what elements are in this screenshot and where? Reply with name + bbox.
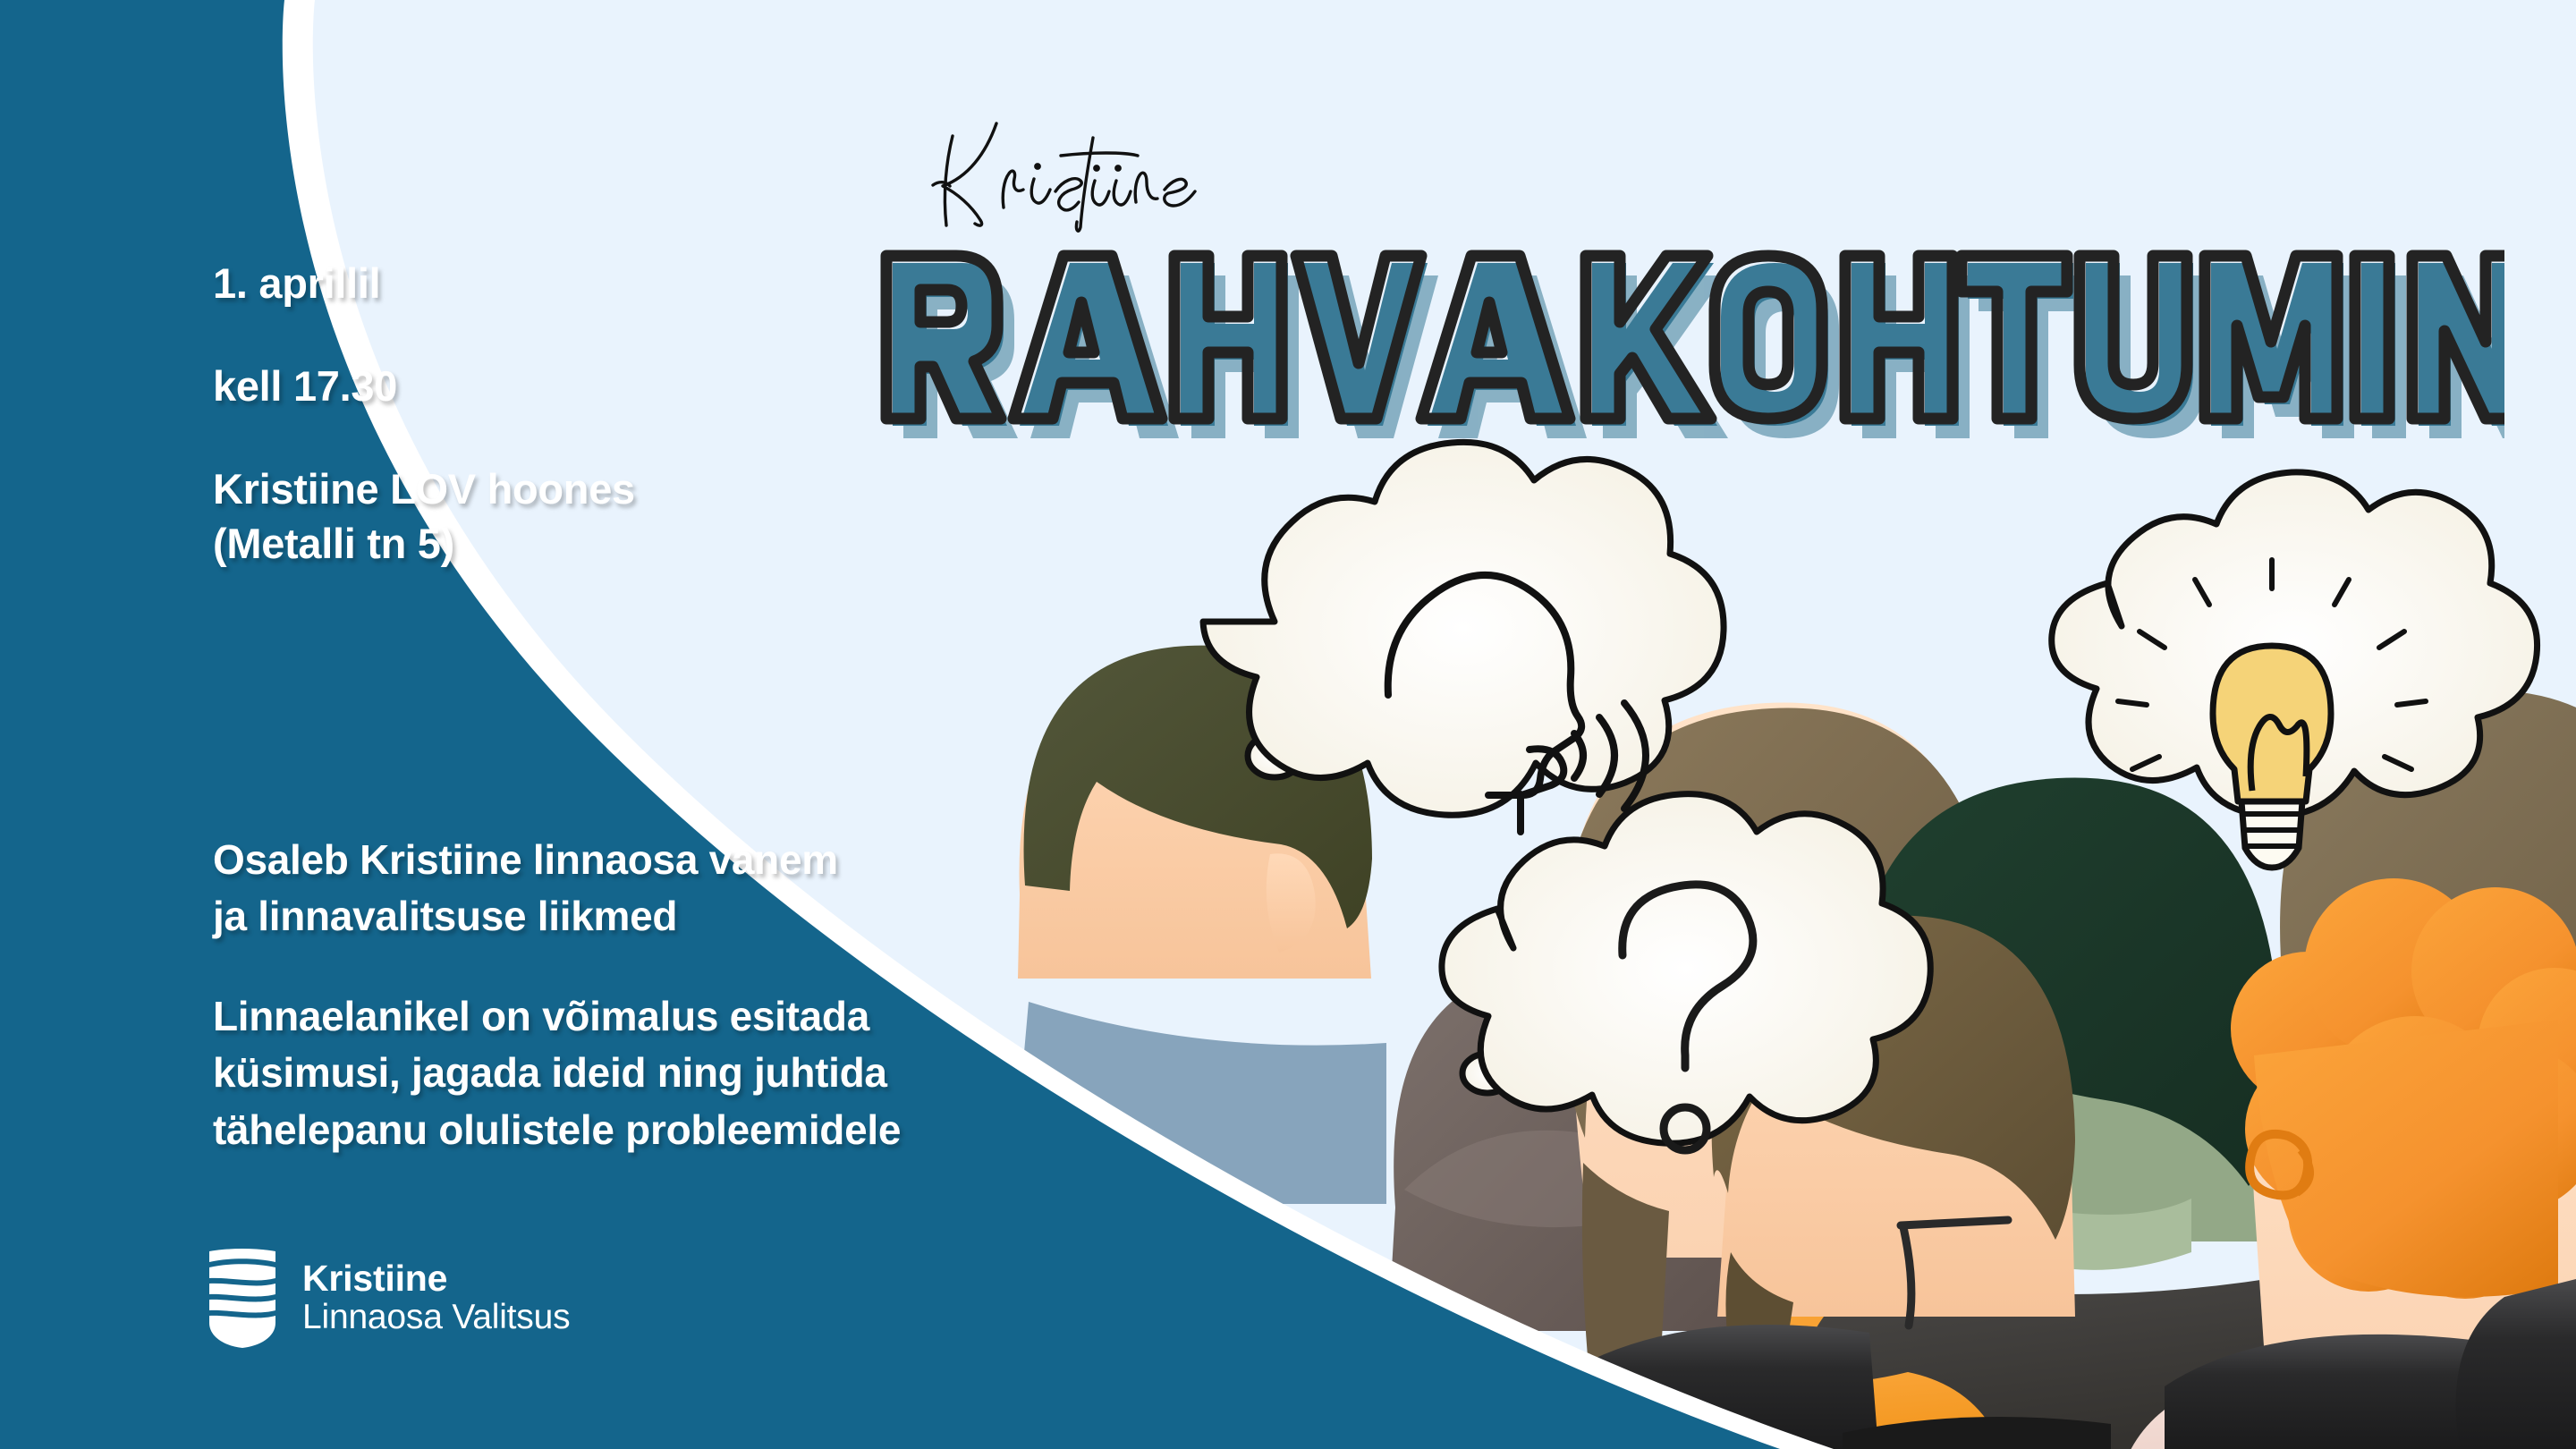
participants-line-1: Osaleb Kristiine linnaosa vanem xyxy=(213,832,901,888)
invitation-line-1: Linnaelanikel on võimalus esitada xyxy=(213,988,901,1045)
poster-canvas: Kristiine xyxy=(0,0,2576,1449)
logo-subtitle: Linnaosa Valitsus xyxy=(302,1298,570,1337)
event-time: kell 17.30 xyxy=(213,359,635,413)
invitation-line-3: tähelepanu olulistele probleemidele xyxy=(213,1102,901,1158)
main-title: RAHVAKOHTUMINE .tshadow { fill:#3A7A96; … xyxy=(877,224,2504,456)
spacer xyxy=(213,310,635,359)
spacer xyxy=(213,413,635,462)
event-date: 1. aprillil xyxy=(213,256,635,310)
logo-wordmark: Kristiine Linnaosa Valitsus xyxy=(302,1259,570,1337)
event-venue-line-1: Kristiine LOV hoones xyxy=(213,462,635,516)
event-details-block: 1. aprillil kell 17.30 Kristiine LOV hoo… xyxy=(213,256,635,571)
logo-name: Kristiine xyxy=(302,1259,570,1298)
spacer xyxy=(213,945,901,988)
script-kristiine: Kristiine xyxy=(903,116,1261,233)
participants-line-2: ja linnavalitsuse liikmed xyxy=(213,888,901,945)
invitation-line-2: küsimusi, jagada ideid ning juhtida xyxy=(213,1045,901,1101)
kristiine-logo: Kristiine Linnaosa Valitsus xyxy=(206,1248,570,1348)
kristiine-shield-icon xyxy=(206,1248,279,1348)
event-venue-line-2: (Metalli tn 5) xyxy=(213,516,635,571)
description-block: Osaleb Kristiine linnaosa vanem ja linna… xyxy=(213,832,901,1158)
headline-group: Kristiine xyxy=(877,107,2504,465)
